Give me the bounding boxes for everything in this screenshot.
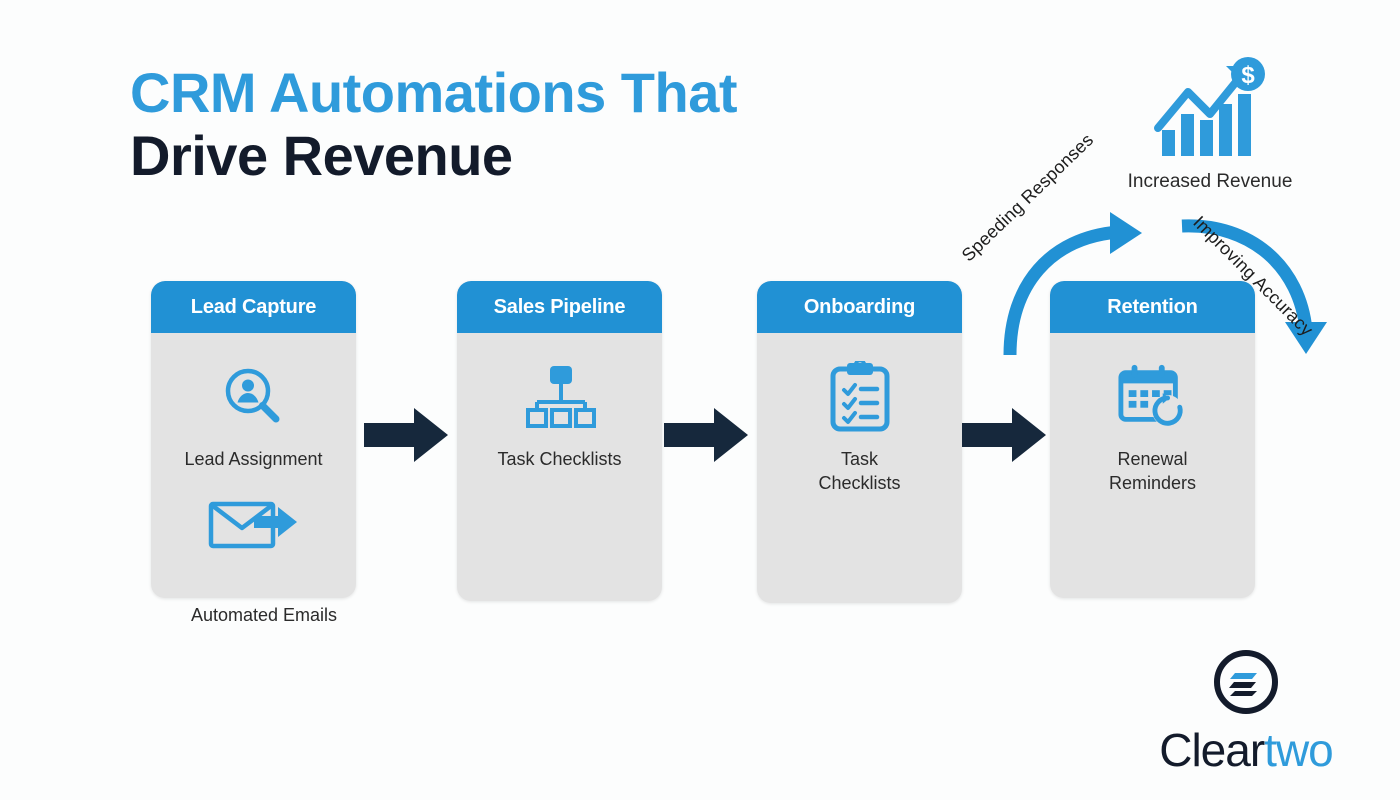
- title-line-1: CRM Automations That: [130, 64, 737, 121]
- stage-caption-task-checklists-pipeline: Task Checklists: [487, 447, 631, 471]
- logo-word-accent: two: [1264, 724, 1333, 776]
- curve-label-speeding-responses: Speeding Responses: [958, 130, 1098, 266]
- stage-card-lead-capture[interactable]: Lead Capture Lead Assignment: [151, 281, 356, 598]
- stage-card-onboarding[interactable]: Onboarding Task Checklists: [757, 281, 962, 603]
- brand-logo[interactable]: Cleartwo: [1124, 646, 1368, 773]
- logo-word-primary: Clear: [1159, 724, 1264, 776]
- stage-card-sales-pipeline[interactable]: Sales Pipeline Task Checklists: [457, 281, 662, 601]
- stage-caption-lead-assignment: Lead Assignment: [174, 447, 332, 471]
- stage-body-lead-capture: Lead Assignment: [151, 333, 356, 573]
- stage-header-label: Onboarding: [804, 296, 915, 319]
- revenue-growth-icon: $: [1152, 56, 1268, 165]
- stage-caption-task-checklists-onboarding: Task Checklists: [808, 447, 910, 496]
- org-chart-icon: [524, 361, 596, 433]
- svg-text:$: $: [1241, 62, 1255, 89]
- cleartwo-mark-icon: [1210, 646, 1282, 723]
- page-title: CRM Automations That Drive Revenue: [130, 64, 737, 184]
- stage-header-retention: Retention: [1050, 281, 1255, 333]
- stage-header-label: Retention: [1107, 296, 1197, 319]
- slide-canvas: CRM Automations That Drive Revenue Lead …: [0, 0, 1400, 800]
- stage-header-lead-capture: Lead Capture: [151, 281, 356, 333]
- stage-header-sales-pipeline: Sales Pipeline: [457, 281, 662, 333]
- outcome-increased-revenue: $ Increased Revenue: [1120, 56, 1300, 193]
- logo-wordmark: Cleartwo: [1159, 727, 1333, 773]
- arrow-pipeline-to-onboarding: [664, 406, 750, 464]
- stage-header-onboarding: Onboarding: [757, 281, 962, 333]
- stage-caption-automated-emails: Automated Emails: [151, 605, 377, 626]
- stage-header-label: Lead Capture: [191, 296, 316, 319]
- lead-search-icon: [218, 361, 290, 433]
- stage-body-onboarding: Task Checklists: [757, 333, 962, 496]
- title-line-2: Drive Revenue: [130, 127, 737, 184]
- stage-body-retention: Renewal Reminders: [1050, 333, 1255, 496]
- stage-card-retention[interactable]: Retention: [1050, 281, 1255, 598]
- automated-email-icon: [208, 493, 300, 551]
- clipboard-checklist-icon: [824, 361, 896, 433]
- calendar-renewal-icon: [1117, 361, 1189, 433]
- outcome-caption: Increased Revenue: [1128, 171, 1293, 193]
- arrow-lead-to-pipeline: [364, 406, 450, 464]
- arrow-onboarding-to-retention: [962, 406, 1048, 464]
- stage-header-label: Sales Pipeline: [494, 296, 626, 319]
- stage-body-sales-pipeline: Task Checklists: [457, 333, 662, 471]
- stage-caption-renewal-reminders: Renewal Reminders: [1099, 447, 1206, 496]
